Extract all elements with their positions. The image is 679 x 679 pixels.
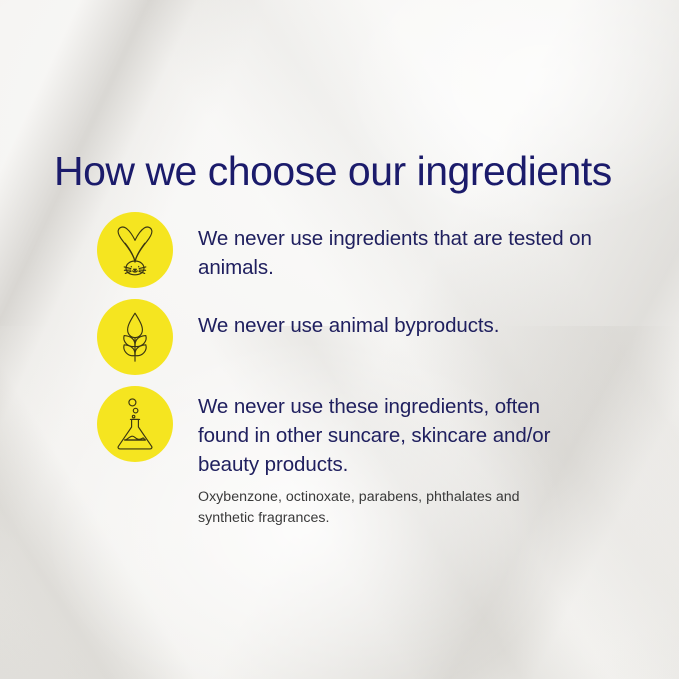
benefits-list: We never use ingredients that are tested… [0,212,679,528]
list-item-subtext: Oxybenzone, octinoxate, parabens, phthal… [198,487,558,528]
plant-sprout-icon [97,299,173,375]
list-item-cruelty-free: We never use ingredients that are tested… [0,212,679,288]
list-item-no-animal-byproducts: We never use animal byproducts. [0,299,679,375]
list-item-headline: We never use animal byproducts. [198,311,598,340]
bunny-heart-ears-icon [97,212,173,288]
page-title: How we choose our ingredients [54,149,612,193]
list-item-headline: We never use these ingredients, often fo… [198,392,596,479]
list-item-text: We never use these ingredients, often fo… [198,386,679,528]
list-item-text: We never use animal byproducts. [198,299,679,340]
list-item-text: We never use ingredients that are tested… [198,212,679,282]
list-item-no-harmful-ingredients: We never use these ingredients, often fo… [0,386,679,528]
list-item-headline: We never use ingredients that are tested… [198,224,598,282]
lab-flask-icon [97,386,173,462]
ingredients-infographic: How we choose our ingredients [0,0,679,679]
